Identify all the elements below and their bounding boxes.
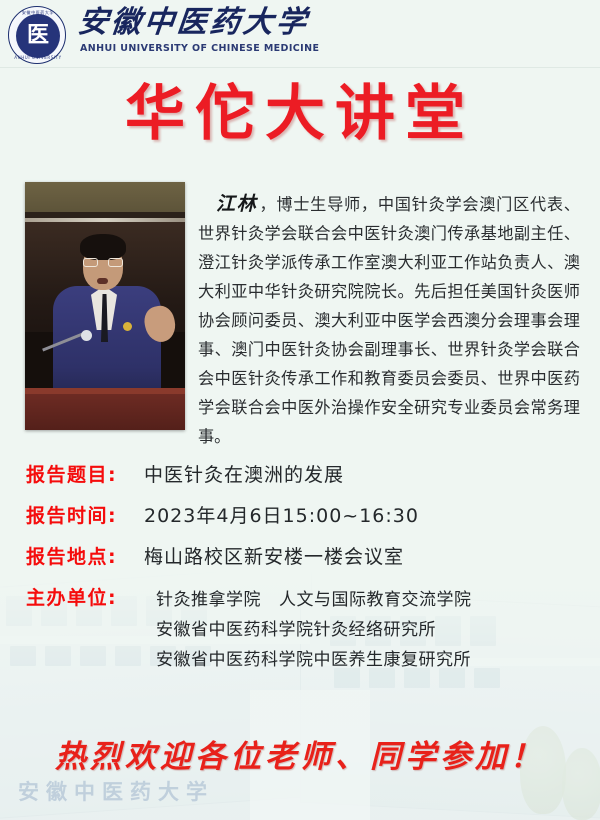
page-title: 华佗大讲堂 [0,84,600,144]
microphone-head [81,330,92,341]
speaker-bio: 江林，博士生导师，中国针灸学会澳门区代表、世界针灸学会联合会中医针灸澳门传承基地… [198,190,580,451]
university-name-cn: 安徽中医药大学 [76,8,310,38]
host-unit-1: 针灸推拿学院 [156,590,261,610]
host-unit-2: 人文与国际教育交流学院 [279,590,472,610]
time-value: 2023年4月6日15:00~16:30 [138,503,574,529]
university-seal-icon: 安徽中医药大学 医 ANHUI UNIVERSITY [8,6,66,64]
info-row-time: 报告时间: 2023年4月6日15:00~16:30 [26,503,574,529]
podium [25,394,185,430]
info-row-place: 报告地点: 梅山路校区新安楼一楼会议室 [26,544,574,570]
speaker-name: 江林 [198,193,259,215]
speaker-photo [25,182,185,430]
speaker-lapel-pin [123,322,132,331]
host-line-1: 针灸推拿学院人文与国际教育交流学院 [156,585,574,615]
seal-center-glyph: 医 [16,14,60,58]
poster-root: 安徽中医药大学 安徽中医药大学 医 ANHUI UNIVERSITY 安徽中医药… [0,0,600,820]
info-row-topic: 报告题目: 中医针灸在澳洲的发展 [26,462,574,488]
speaker-glasses [83,258,123,267]
speaker-bio-text: ，博士生导师，中国针灸学会澳门区代表、世界针灸学会联合会中医针灸澳门传承基地副主… [198,195,580,446]
time-label: 报告时间: [26,503,138,529]
seal-inner-disc: 医 [16,14,60,58]
topic-label: 报告题目: [26,462,138,488]
photo-wall-top [25,182,185,216]
topic-value: 中医针灸在澳洲的发展 [138,462,574,488]
host-line-3: 安徽省中医药科学院中医养生康复研究所 [156,645,574,675]
university-name-en: ANHUI UNIVERSITY OF CHINESE MEDICINE [80,43,319,54]
place-label: 报告地点: [26,544,138,570]
place-value: 梅山路校区新安楼一楼会议室 [138,544,574,570]
poster-header: 安徽中医药大学 医 ANHUI UNIVERSITY 安徽中医药大学 ANHUI… [0,0,600,68]
welcome-banner: 热烈欢迎各位老师、同学参加！ [0,742,600,773]
seal-bottom-text: ANHUI UNIVERSITY [9,55,67,60]
info-row-host: 主办单位: 针灸推拿学院人文与国际教育交流学院 安徽省中医药科学院针灸经络研究所… [26,585,574,675]
speaker-mouth [97,278,108,284]
host-label: 主办单位: [26,585,138,611]
host-line-2: 安徽省中医药科学院针灸经络研究所 [156,615,574,645]
speaker-hair [80,234,126,260]
event-info-block: 报告题目: 中医针灸在澳洲的发展 报告时间: 2023年4月6日15:00~16… [26,462,574,675]
host-values: 针灸推拿学院人文与国际教育交流学院 安徽省中医药科学院针灸经络研究所 安徽省中医… [138,585,574,675]
header-divider [0,67,600,68]
